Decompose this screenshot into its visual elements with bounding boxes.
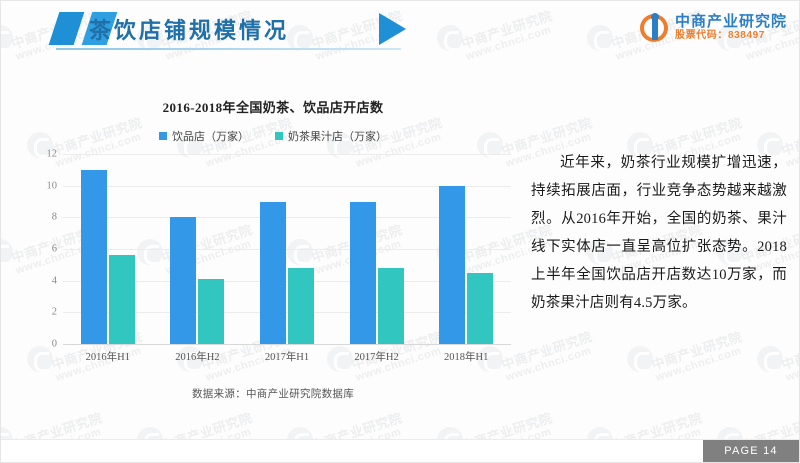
legend-label: 饮品店（万家） <box>172 128 249 144</box>
bar-group <box>421 154 511 344</box>
bar[interactable] <box>467 273 493 344</box>
bar-group <box>63 154 153 344</box>
chart-plot-area: 024681012 <box>63 154 511 344</box>
bar[interactable] <box>81 170 107 344</box>
y-axis-tick-label: 2 <box>52 307 57 318</box>
bar-group <box>332 154 422 344</box>
x-axis-tick-label: 2016年H1 <box>63 349 153 364</box>
footer-bar <box>1 439 800 462</box>
chart-container: 2016-2018年全国奶茶、饮品店开店数 饮品店（万家）奶茶果汁店（万家） 0… <box>23 93 523 398</box>
bar[interactable] <box>109 255 135 344</box>
chart-bars <box>63 154 511 344</box>
watermark-logo-icon <box>627 346 653 372</box>
bar[interactable] <box>350 202 376 345</box>
y-axis-tick-label: 6 <box>52 244 57 255</box>
x-axis-tick-label: 2016年H2 <box>153 349 243 364</box>
y-axis-tick-label: 0 <box>52 339 57 350</box>
x-axis-tick-label: 2017年H2 <box>332 349 422 364</box>
watermark-text: 中商产业研究院www.chnci.com <box>779 326 800 384</box>
page-title: 茶饮店铺规模情况 <box>89 13 289 45</box>
chart-legend: 饮品店（万家）奶茶果汁店（万家） <box>23 128 523 144</box>
y-axis-tick-label: 4 <box>52 275 57 286</box>
slide-page: 中商产业研究院www.chnci.com中商产业研究院www.chnci.com… <box>0 0 800 463</box>
logo-company-name: 中商产业研究院 <box>675 14 787 30</box>
accent-bar-1 <box>49 12 85 45</box>
bar-group <box>153 154 243 344</box>
y-axis-labels: 024681012 <box>29 154 57 344</box>
x-axis-tick-label: 2017年H1 <box>242 349 332 364</box>
chart-source-note: 数据来源：中商产业研究院数据库 <box>23 386 523 401</box>
watermark-logo-icon <box>0 239 13 265</box>
company-logo: 中商产业研究院 股票代码：838497 <box>640 9 787 47</box>
bar[interactable] <box>260 202 286 345</box>
header-arrow-icon <box>379 13 406 45</box>
gridline <box>63 344 511 345</box>
bar[interactable] <box>439 186 465 344</box>
y-axis-tick-label: 8 <box>52 212 57 223</box>
logo-stock-code: 股票代码：838497 <box>675 31 787 42</box>
chart-title: 2016-2018年全国奶茶、饮品店开店数 <box>23 97 523 116</box>
legend-item[interactable]: 奶茶果汁店（万家） <box>275 128 387 144</box>
watermark-logo-icon <box>757 346 783 372</box>
legend-swatch-icon <box>275 132 283 140</box>
bar[interactable] <box>288 268 314 344</box>
bar[interactable] <box>198 279 224 344</box>
bar[interactable] <box>378 268 404 344</box>
x-axis-labels: 2016年H12016年H22017年H12017年H22018年H1 <box>63 349 511 364</box>
logo-mark-icon <box>640 14 668 42</box>
watermark-text: 中商产业研究院www.chnci.com <box>649 326 748 384</box>
x-axis-tick-label: 2018年H1 <box>421 349 511 364</box>
body-paragraph: 近年来，奶茶行业规模扩增迅速，持续拓展店面，行业竞争态势越来越激烈。从2016年… <box>531 149 787 317</box>
legend-label: 奶茶果汁店（万家） <box>288 128 387 144</box>
bar-group <box>242 154 332 344</box>
logo-text: 中商产业研究院 股票代码：838497 <box>675 14 787 41</box>
legend-item[interactable]: 饮品店（万家） <box>159 128 249 144</box>
header-divider <box>56 48 401 50</box>
legend-swatch-icon <box>159 132 167 140</box>
page-number-badge: PAGE 14 <box>703 440 799 462</box>
bar[interactable] <box>170 217 196 344</box>
y-axis-tick-label: 10 <box>47 180 58 191</box>
slide-header: 茶饮店铺规模情况 中商产业研究院 股票代码：838497 <box>1 1 800 55</box>
y-axis-tick-label: 12 <box>47 149 58 160</box>
